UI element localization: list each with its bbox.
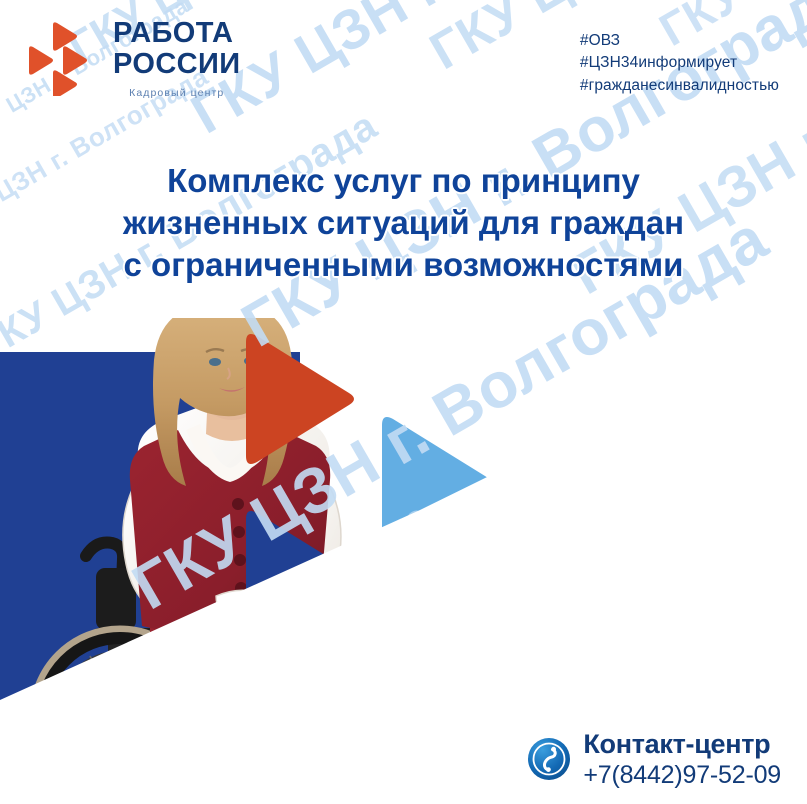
rabota-rossii-triangles-logo <box>26 20 100 96</box>
logo-title-line1: РАБОТА <box>113 18 241 49</box>
poster-canvas: ГКУ ЦЗН г. Волгограда ГКУ ЦЗН г. Волгогр… <box>0 0 807 804</box>
contact-center-title: Контакт-центр <box>583 730 781 758</box>
contact-center-phone[interactable]: +7(8442)97-52-09 <box>583 762 781 788</box>
page-title: Комплекс услуг по принципу жизненных сит… <box>0 160 807 287</box>
logo-subtitle: Кадровый центр <box>113 88 241 99</box>
contact-center-block[interactable]: Контакт-центр +7(8442)97-52-09 <box>527 730 781 788</box>
triangles-svg <box>0 0 807 804</box>
logo-title-line2: РОССИИ <box>113 49 241 80</box>
logo-text-block: РАБОТА РОССИИ Кадровый центр <box>113 18 241 98</box>
decorative-triangles <box>0 0 807 804</box>
hashtag-item: #гражданесинвалидностью <box>580 75 779 97</box>
dark-blue-triangle <box>246 511 372 663</box>
rabota-rossii-logo: РАБОТА РОССИИ Кадровый центр <box>26 18 241 98</box>
heading-line-2: жизненных ситуаций для граждан <box>18 202 789 244</box>
logo-mark-svg <box>26 20 100 96</box>
hashtag-block: #ОВЗ #ЦЗН34информирует #гражданесинвалид… <box>580 30 779 97</box>
hashtag-item: #ОВЗ <box>580 30 779 52</box>
contact-text-block: Контакт-центр +7(8442)97-52-09 <box>583 730 781 788</box>
light-blue-triangle <box>382 417 490 547</box>
phone-icon-svg <box>527 737 571 781</box>
heading-line-1: Комплекс услуг по принципу <box>18 160 789 202</box>
heading-line-3: с ограниченными возможностями <box>18 244 789 286</box>
phone-handset-icon <box>527 737 571 781</box>
hashtag-item: #ЦЗН34информирует <box>580 52 779 74</box>
orange-triangle <box>246 334 354 464</box>
